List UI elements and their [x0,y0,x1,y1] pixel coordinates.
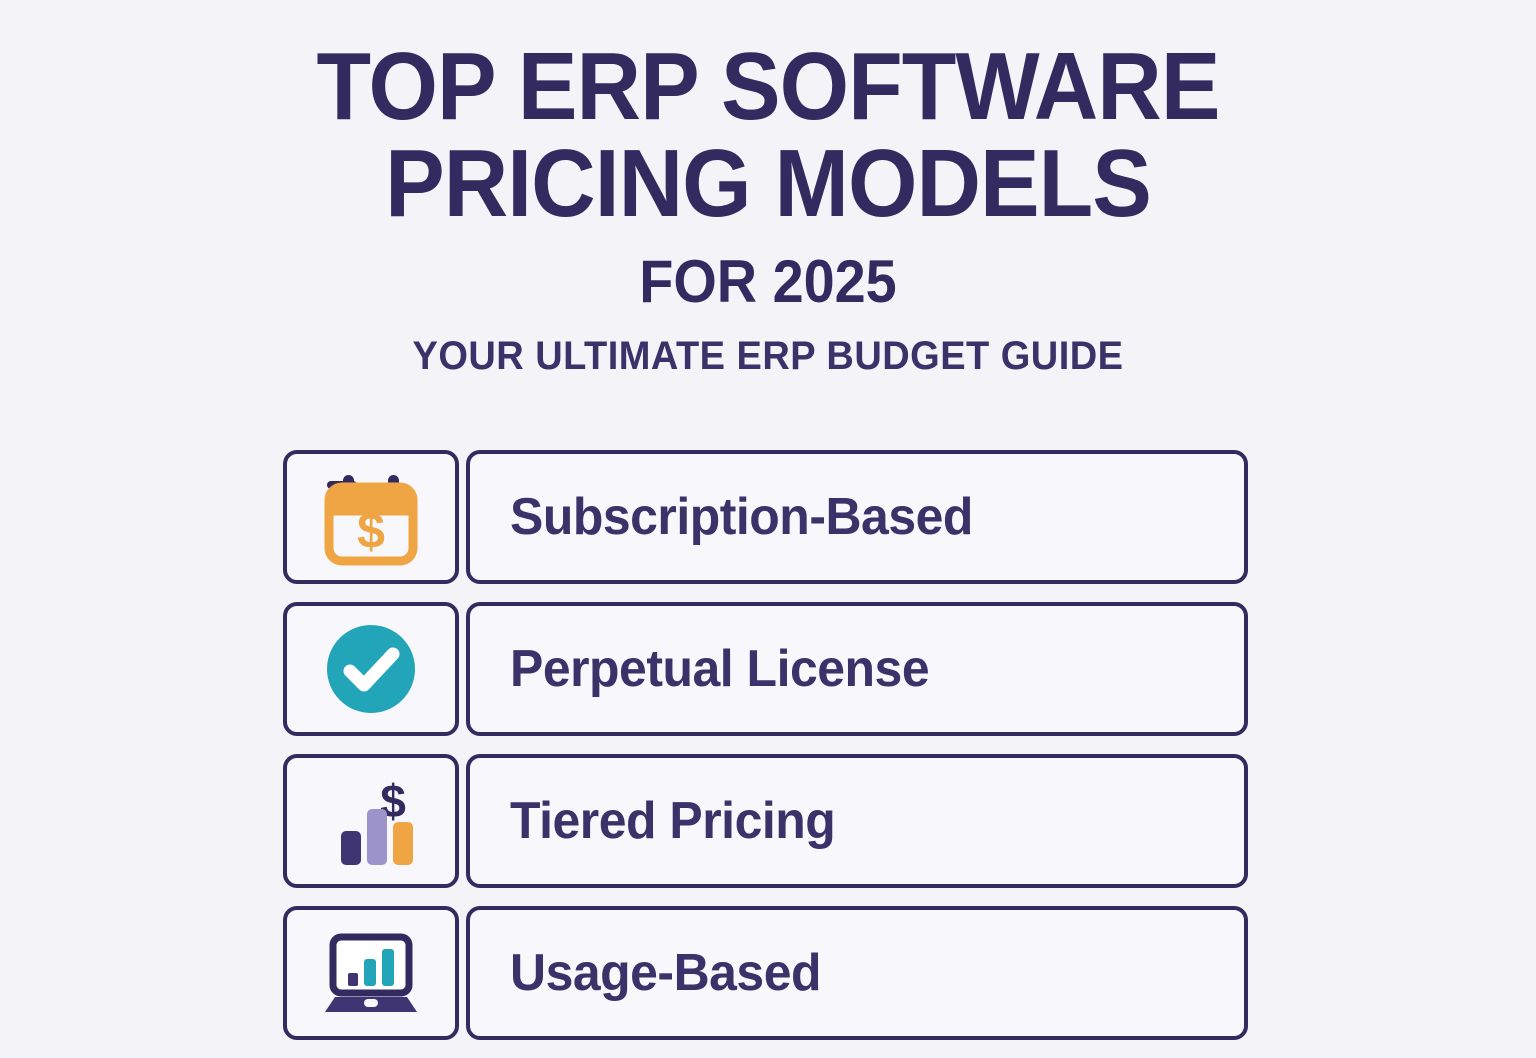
icon-container-perpetual [283,602,459,736]
label-container-tiered[interactable]: Tiered Pricing [466,754,1248,888]
model-label: Subscription-Based [510,487,973,547]
svg-text:$: $ [357,503,385,559]
model-label: Usage-Based [510,943,821,1003]
model-label: Tiered Pricing [510,791,835,851]
list-item[interactable]: $ Tiered Pricing [283,754,1248,888]
bar-chart-dollar-icon: $ [319,769,423,873]
pricing-model-list: $ Subscription-Based Perpetual License [283,450,1248,1058]
label-container-perpetual[interactable]: Perpetual License [466,602,1248,736]
page-title-year: FOR 2025 [54,250,1482,313]
label-container-usage[interactable]: Usage-Based [466,906,1248,1040]
headline-block: TOP ERP SOFTWARE PRICING MODELS FOR 2025… [0,0,1536,377]
page-title-line-2: PRICING MODELS [54,135,1482,234]
calendar-dollar-icon: $ [319,465,423,569]
icon-container-subscription: $ [283,450,459,584]
label-container-subscription[interactable]: Subscription-Based [466,450,1248,584]
page-title-line-1: TOP ERP SOFTWARE [54,38,1482,137]
model-label: Perpetual License [510,639,929,699]
list-item[interactable]: Usage-Based [283,906,1248,1040]
page-subtitle: YOUR ULTIMATE ERP BUDGET GUIDE [38,335,1497,377]
list-item[interactable]: $ Subscription-Based [283,450,1248,584]
list-item[interactable]: Perpetual License [283,602,1248,736]
laptop-chart-icon [319,921,423,1025]
icon-container-tiered: $ [283,754,459,888]
check-circle-icon [319,617,423,721]
infographic-page: TOP ERP SOFTWARE PRICING MODELS FOR 2025… [0,0,1536,1024]
icon-container-usage [283,906,459,1040]
